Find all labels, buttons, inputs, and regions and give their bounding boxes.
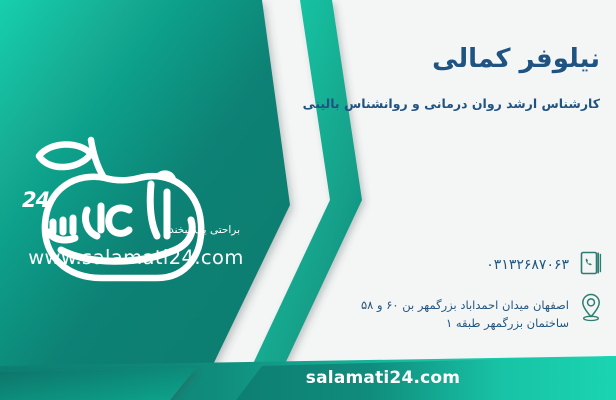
contact-row-phone[interactable]: ۰۳۱۳۲۶۸۷۰۶۳	[486, 248, 604, 278]
info-pane: نیلوفر کمالی کارشناس ارشد روان درمانی و …	[296, 0, 616, 356]
logo-block: 24 براحتی یک لبخند www.salamati24.com	[0, 0, 300, 356]
business-card: 24 براحتی یک لبخند www.salamati24.com نی…	[0, 0, 616, 400]
address-line-2: طبقه ۱	[446, 316, 480, 330]
person-title: کارشناس ارشد روان درمانی و روانشناس بالی…	[306, 96, 600, 112]
logo-website: www.salamati24.com	[14, 246, 258, 269]
phone-book-icon	[578, 248, 604, 278]
contact-row-address[interactable]: اصفهان میدان احمداباد بزرگمهر بن ۶۰ و ۵۸…	[319, 292, 604, 333]
logo-tagline: براحتی یک لبخند	[169, 224, 240, 236]
person-name: نیلوفر کمالی	[310, 44, 600, 75]
phone-number: ۰۳۱۳۲۶۸۷۰۶۳	[486, 248, 569, 277]
logo-24-badge: 24	[22, 188, 49, 212]
map-pin-icon	[578, 292, 604, 322]
footer-website[interactable]: salamati24.com	[306, 368, 460, 388]
footer-band: salamati24.com	[0, 355, 616, 400]
address-text: اصفهان میدان احمداباد بزرگمهر بن ۶۰ و ۵۸…	[319, 292, 569, 333]
